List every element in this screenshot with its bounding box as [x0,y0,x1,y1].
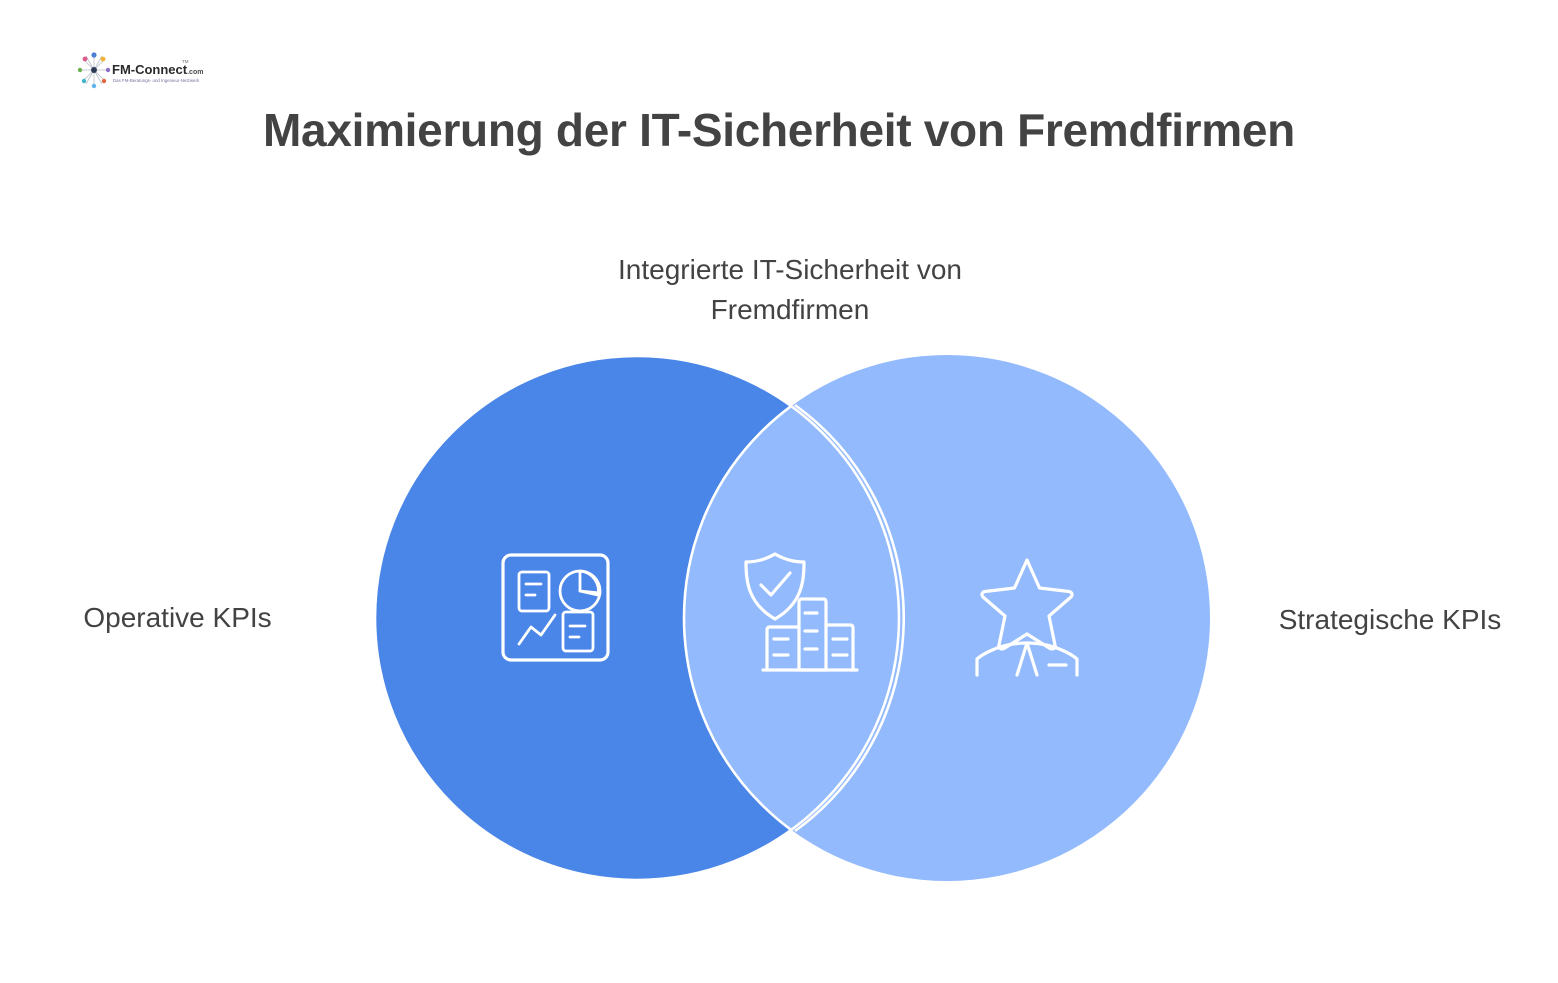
fm-connect-logo[interactable]: FM-Connect.com TM Das FM-Beratungs- und … [72,50,222,94]
logo-snowflake-icon [78,52,110,88]
venn-left-label: Operative KPIs [0,600,355,636]
venn-caption-line-1: Integrierte IT-Sicherheit von [529,250,1051,290]
logo-tagline: Das FM-Beratungs- und Ingenieur-Netzwerk [113,78,200,83]
slide-canvas: FM-Connect.com TM Das FM-Beratungs- und … [0,0,1558,983]
logo-wordmark: FM-Connect.com [112,62,203,77]
venn-diagram [355,335,1235,905]
logo-trademark: TM [182,59,189,64]
venn-right-label: Strategische KPIs [1222,602,1558,638]
venn-caption-line-2: Fremdfirmen [529,290,1051,330]
venn-caption: Integrierte IT-Sicherheit von Fremdfirme… [529,250,1051,330]
page-title: Maximierung der IT-Sicherheit von Fremdf… [0,104,1558,157]
